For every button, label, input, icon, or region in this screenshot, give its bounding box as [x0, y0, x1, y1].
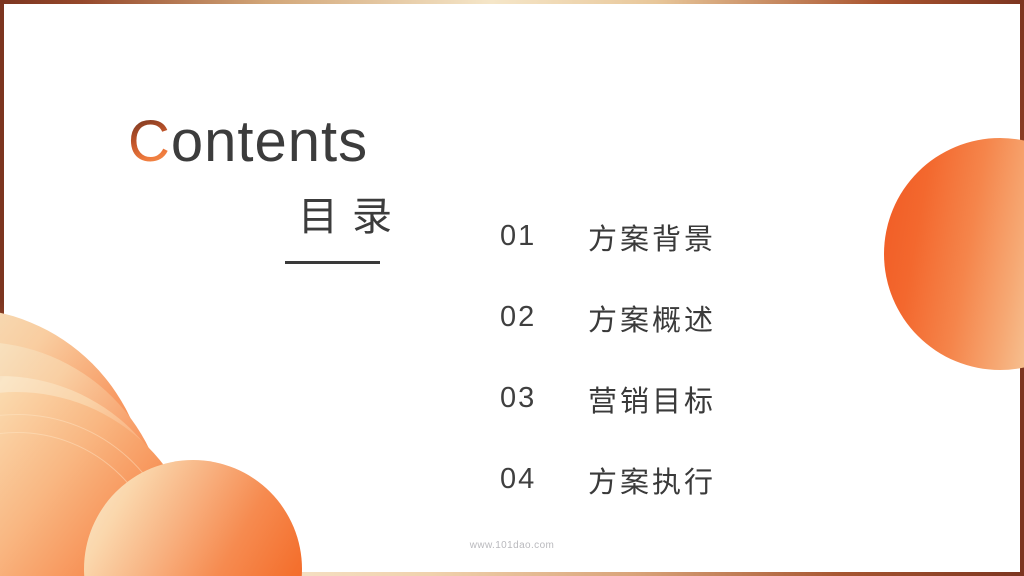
contents-list: 01 方案背景 02 方案概述 03 营销目标 04 方案执行 [500, 196, 880, 520]
decorative-circle-right [884, 138, 1024, 370]
slide-canvas: Contents 目录 01 方案背景 02 方案概述 03 营销目标 04 方… [0, 0, 1024, 576]
list-item[interactable]: 03 营销目标 [500, 358, 880, 439]
page-title-rest: ontents [171, 109, 368, 174]
page-subtitle-cn: 目录 [128, 195, 428, 239]
list-item-number: 03 [500, 382, 588, 415]
headline-block: Contents 目录 [128, 112, 428, 264]
list-item-label: 方案执行 [588, 459, 716, 501]
frame-top-border [0, 0, 1024, 4]
list-item-label: 方案概述 [588, 297, 716, 339]
list-item[interactable]: 02 方案概述 [500, 277, 880, 358]
list-item-label: 营销目标 [588, 378, 716, 420]
page-title: Contents [128, 112, 428, 173]
title-divider [285, 261, 380, 264]
watermark-text: www.101dao.com [0, 540, 1024, 551]
list-item-label: 方案背景 [588, 216, 716, 258]
list-item-number: 02 [500, 301, 588, 334]
list-item-number: 01 [500, 220, 588, 253]
list-item-number: 04 [500, 463, 588, 496]
page-title-initial: C [128, 109, 171, 174]
list-item[interactable]: 01 方案背景 [500, 196, 880, 277]
decorative-circle-cluster [0, 300, 400, 576]
list-item[interactable]: 04 方案执行 [500, 439, 880, 520]
